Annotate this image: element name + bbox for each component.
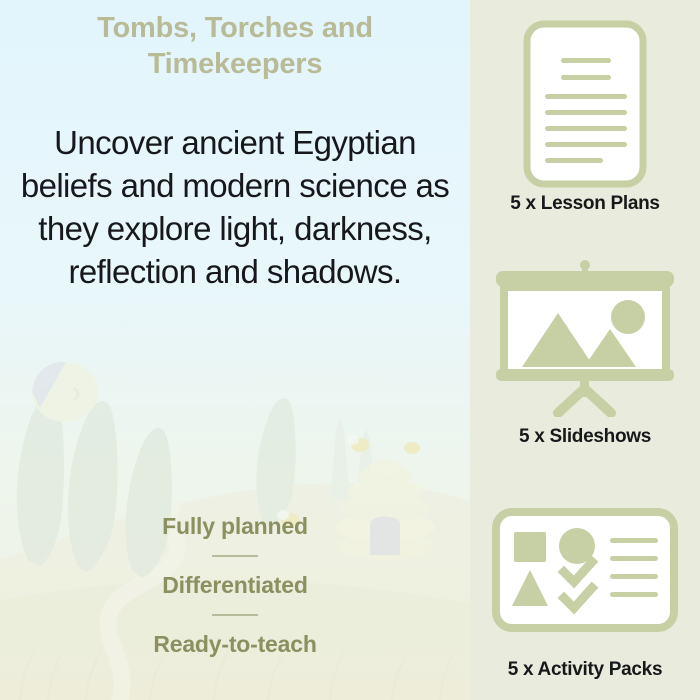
asset-activity-packs: 5 x Activity Packs xyxy=(470,467,700,700)
asset-label-slideshows: 5 x Slideshows xyxy=(519,426,651,448)
asset-label-lesson-plans: 5 x Lesson Plans xyxy=(510,193,659,215)
feature-divider-2 xyxy=(212,614,258,616)
feature-list: Fully planned Differentiated Ready-to-te… xyxy=(0,514,470,656)
asset-lesson-plans: 5 x Lesson Plans xyxy=(470,0,700,233)
feature-item-3: Ready-to-teach xyxy=(0,632,470,656)
feature-divider-1 xyxy=(212,555,258,557)
asset-slideshows: 5 x Slideshows xyxy=(470,233,700,466)
right-panel-assets: 5 x Lesson Plans xyxy=(470,0,700,700)
page-description: Uncover ancient Egyptian beliefs and mod… xyxy=(14,122,456,294)
asset-label-activity-packs: 5 x Activity Packs xyxy=(508,659,662,681)
left-content: Tombs, Torches and Timekeepers Uncover a… xyxy=(0,0,470,700)
activity-card-icon xyxy=(492,485,678,655)
presentation-screen-icon xyxy=(492,252,678,422)
feature-item-2: Differentiated xyxy=(0,573,470,597)
page-title: Tombs, Torches and Timekeepers xyxy=(36,11,434,82)
feature-item-1: Fully planned xyxy=(0,514,470,538)
promo-graphic: Tombs, Torches and Timekeepers Uncover a… xyxy=(0,0,700,700)
document-lesson-plan-icon xyxy=(523,19,647,189)
left-panel: Tombs, Torches and Timekeepers Uncover a… xyxy=(0,0,470,700)
